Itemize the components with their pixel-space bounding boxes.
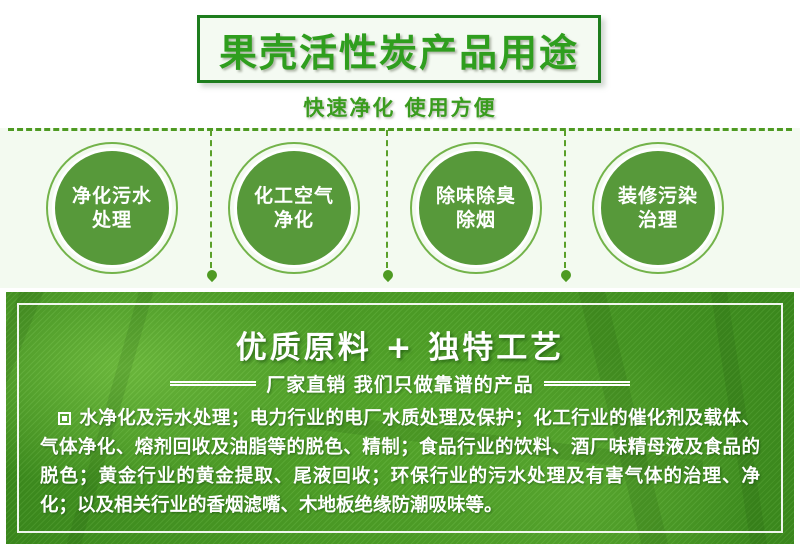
banner-subtitle: 厂家直销 我们只做靠谱的产品 xyxy=(266,370,534,397)
leaf-banner-section: 优质原料 + 独特工艺 厂家直销 我们只做靠谱的产品 水净化及污水处理；电力行业… xyxy=(6,292,794,544)
dashed-divider-line xyxy=(8,128,792,131)
dropper-connector-1 xyxy=(210,130,212,268)
feature-label-line2: 治理 xyxy=(638,208,678,232)
feature-circle-4[interactable]: 装修污染 治理 xyxy=(592,142,724,274)
feature-label-line2: 除烟 xyxy=(456,208,496,232)
feature-label-line1: 除味除臭 xyxy=(436,184,516,208)
circle-core: 化工空气 净化 xyxy=(234,148,354,268)
rule-right xyxy=(544,381,630,386)
banner-subtitle-row: 厂家直销 我们只做靠谱的产品 xyxy=(6,370,794,397)
banner-content: 优质原料 + 独特工艺 厂家直销 我们只做靠谱的产品 水净化及污水处理；电力行业… xyxy=(6,292,794,544)
droplet-icon xyxy=(381,268,395,282)
page-title: 果壳活性炭产品用途 xyxy=(219,22,579,77)
feature-circle-1[interactable]: 净化污水 处理 xyxy=(46,142,178,274)
banner-title: 优质原料 + 独特工艺 xyxy=(6,322,794,367)
feature-label-line2: 净化 xyxy=(274,208,314,232)
circle-core: 装修污染 治理 xyxy=(598,148,718,268)
feature-label-line1: 装修污染 xyxy=(618,184,698,208)
droplet-icon xyxy=(559,268,573,282)
banner-body-text: 水净化及污水处理；电力行业的电厂水质处理及保护；化工行业的催化剂及载体、气体净化… xyxy=(40,408,760,516)
feature-circle-3[interactable]: 除味除臭 除烟 xyxy=(410,142,542,274)
feature-circle-2[interactable]: 化工空气 净化 xyxy=(228,142,360,274)
square-bullet-icon xyxy=(58,412,71,425)
dropper-connector-3 xyxy=(564,130,566,268)
header-section: 果壳活性炭产品用途 快速净化 使用方便 xyxy=(0,0,800,128)
feature-label-line1: 化工空气 xyxy=(254,184,334,208)
promo-page: 果壳活性炭产品用途 快速净化 使用方便 净化污水 处理 化工空气 净化 xyxy=(0,0,800,550)
header-subtitle: 快速净化 使用方便 xyxy=(0,92,800,122)
dropper-connector-2 xyxy=(386,130,388,268)
feature-label-line2: 处理 xyxy=(92,208,132,232)
features-section: 净化污水 处理 化工空气 净化 除味除臭 除烟 装修污染 治理 xyxy=(0,128,800,288)
rule-left xyxy=(170,381,256,386)
banner-body-paragraph: 水净化及污水处理；电力行业的电厂水质处理及保护；化工行业的催化剂及载体、气体净化… xyxy=(40,404,760,520)
title-box: 果壳活性炭产品用途 xyxy=(197,15,601,83)
feature-label-line1: 净化污水 xyxy=(72,184,152,208)
circle-core: 净化污水 处理 xyxy=(52,148,172,268)
droplet-icon xyxy=(205,268,219,282)
circle-core: 除味除臭 除烟 xyxy=(416,148,536,268)
